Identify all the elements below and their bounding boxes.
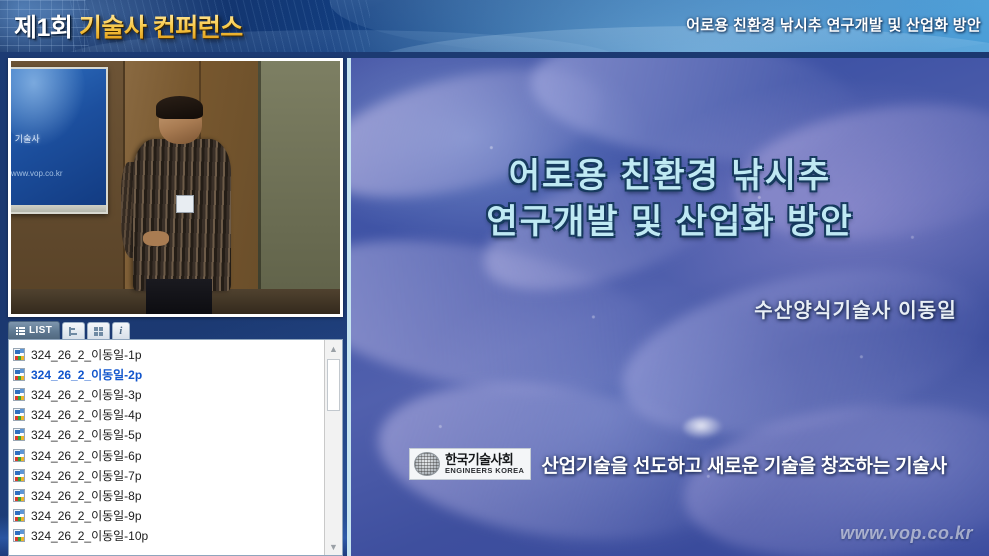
slide-viewer[interactable]: 어로용 친환경 낚시추 연구개발 및 산업화 방안 수산양식기술사 이동일 한국… <box>347 58 989 556</box>
header-banner: 제1회 기술사 컨퍼런스 어로용 친환경 낚시추 연구개발 및 산업화 방안 <box>0 0 989 52</box>
logo-text: 한국기술사회 ENGINEERS KOREA <box>445 453 524 475</box>
list-item[interactable]: 324_26_2_이동일-3p <box>13 384 324 404</box>
projection-screen-base <box>11 205 108 214</box>
slide-title: 어로용 친환경 낚시추 연구개발 및 산업화 방안 <box>351 154 989 245</box>
slide-list-box: 324_26_2_이동일-1p 324_26_2_이동일-2p 324_26_2… <box>8 340 343 556</box>
presenter-hands <box>143 231 169 246</box>
slide-footer: 한국기술사회 ENGINEERS KOREA 산업기술을 선도하고 새로운 기술… <box>409 448 947 480</box>
slide-bg-highlight <box>683 417 723 439</box>
list-item-label: 324_26_2_이동일-10p <box>31 527 148 544</box>
list-item[interactable]: 324_26_2_이동일-5p <box>13 425 324 445</box>
slide-canvas: 어로용 친환경 낚시추 연구개발 및 산업화 방안 수산양식기술사 이동일 한국… <box>351 58 989 556</box>
list-item[interactable]: 324_26_2_이동일-9p <box>13 506 324 526</box>
slide-title-line-1: 어로용 친환경 낚시추 <box>509 157 831 195</box>
list-item-label: 324_26_2_이동일-8p <box>31 487 142 504</box>
powerpoint-file-icon <box>13 509 25 522</box>
conference-title: 제1회 기술사 컨퍼런스 <box>14 8 243 44</box>
engineers-korea-logo: 한국기술사회 ENGINEERS KOREA <box>409 448 531 480</box>
scrollbar-thumb[interactable] <box>327 359 340 411</box>
slide-list-panel: LIST i 324_26_2_이동일-1p 324_26_2_이동일-2 <box>8 321 343 556</box>
projection-screen-text-2: www.vop.co.kr <box>11 169 63 178</box>
session-subtitle: 어로용 친환경 낚시추 연구개발 및 산업화 방안 <box>686 14 981 35</box>
list-panel-tabbar: LIST i <box>8 321 343 340</box>
presenter-body <box>133 139 232 291</box>
info-icon: i <box>119 327 122 336</box>
slide-slogan: 산업기술을 선도하고 새로운 기술을 창조하는 기술사 <box>541 451 947 478</box>
tab-tree[interactable] <box>62 322 85 339</box>
grid-icon <box>94 327 103 336</box>
list-item-label: 324_26_2_이동일-1p <box>31 346 142 363</box>
video-wall-right <box>258 61 340 314</box>
conference-title-prefix: 제1회 <box>14 14 72 42</box>
powerpoint-file-icon <box>13 368 25 381</box>
powerpoint-file-icon <box>13 529 25 542</box>
conference-title-main: 기술사 컨퍼런스 <box>79 14 243 42</box>
projection-screen-text-1: 기술사 <box>15 132 40 145</box>
presenter-video-frame[interactable]: 기술사 www.vop.co.kr <box>11 61 340 314</box>
list-item-label: 324_26_2_이동일-5p <box>31 426 142 443</box>
list-item-label: 324_26_2_이동일-4p <box>31 406 142 423</box>
logo-korean-name: 한국기술사회 <box>445 453 524 467</box>
powerpoint-file-icon <box>13 428 25 441</box>
scroll-up-arrow-icon[interactable]: ▲ <box>325 340 342 357</box>
list-scrollbar[interactable]: ▲ ▼ <box>324 340 342 555</box>
list-item[interactable]: 324_26_2_이동일-10p <box>13 526 324 546</box>
powerpoint-file-icon <box>13 489 25 502</box>
projection-screen: 기술사 www.vop.co.kr <box>11 67 108 214</box>
list-item[interactable]: 324_26_2_이동일-1p <box>13 344 324 364</box>
scrollbar-track[interactable] <box>325 357 342 538</box>
slide-author: 수산양식기술사 이동일 <box>754 294 957 323</box>
list-item[interactable]: 324_26_2_이동일-6p <box>13 445 324 465</box>
tab-list[interactable]: LIST <box>8 321 60 339</box>
list-item[interactable]: 324_26_2_이동일-8p <box>13 485 324 505</box>
list-item[interactable]: 324_26_2_이동일-7p <box>13 465 324 485</box>
tab-list-label: LIST <box>29 325 52 336</box>
presenter-video-panel[interactable]: 기술사 www.vop.co.kr <box>8 58 343 317</box>
video-wall-seam-3 <box>258 61 261 314</box>
list-item[interactable]: 324_26_2_이동일-4p <box>13 405 324 425</box>
powerpoint-file-icon <box>13 449 25 462</box>
presenter-name-badge <box>176 195 194 213</box>
powerpoint-file-icon <box>13 348 25 361</box>
presentation-viewer-app: 제1회 기술사 컨퍼런스 어로용 친환경 낚시추 연구개발 및 산업화 방안 기… <box>0 0 989 556</box>
scroll-down-arrow-icon[interactable]: ▼ <box>325 538 342 555</box>
tab-info[interactable]: i <box>112 322 129 339</box>
tab-grid[interactable] <box>87 322 110 339</box>
tree-icon <box>69 327 78 336</box>
list-item-label: 324_26_2_이동일-7p <box>31 467 142 484</box>
list-item-label: 324_26_2_이동일-6p <box>31 447 142 464</box>
powerpoint-file-icon <box>13 388 25 401</box>
logo-english-name: ENGINEERS KOREA <box>445 467 524 475</box>
powerpoint-file-icon <box>13 469 25 482</box>
powerpoint-file-icon <box>13 408 25 421</box>
list-item[interactable]: 324_26_2_이동일-2p <box>13 364 324 384</box>
presenter-hair <box>156 96 204 119</box>
emblem-icon <box>414 452 440 476</box>
list-item-label: 324_26_2_이동일-9p <box>31 507 142 524</box>
slide-watermark: www.vop.co.kr <box>840 523 973 544</box>
slide-list-items: 324_26_2_이동일-1p 324_26_2_이동일-2p 324_26_2… <box>9 340 324 555</box>
presenter-legs <box>146 279 212 314</box>
slide-title-line-2: 연구개발 및 산업화 방안 <box>351 200 989 246</box>
list-icon <box>16 327 25 335</box>
list-item-label: 324_26_2_이동일-2p <box>31 366 142 383</box>
list-item-label: 324_26_2_이동일-3p <box>31 386 142 403</box>
